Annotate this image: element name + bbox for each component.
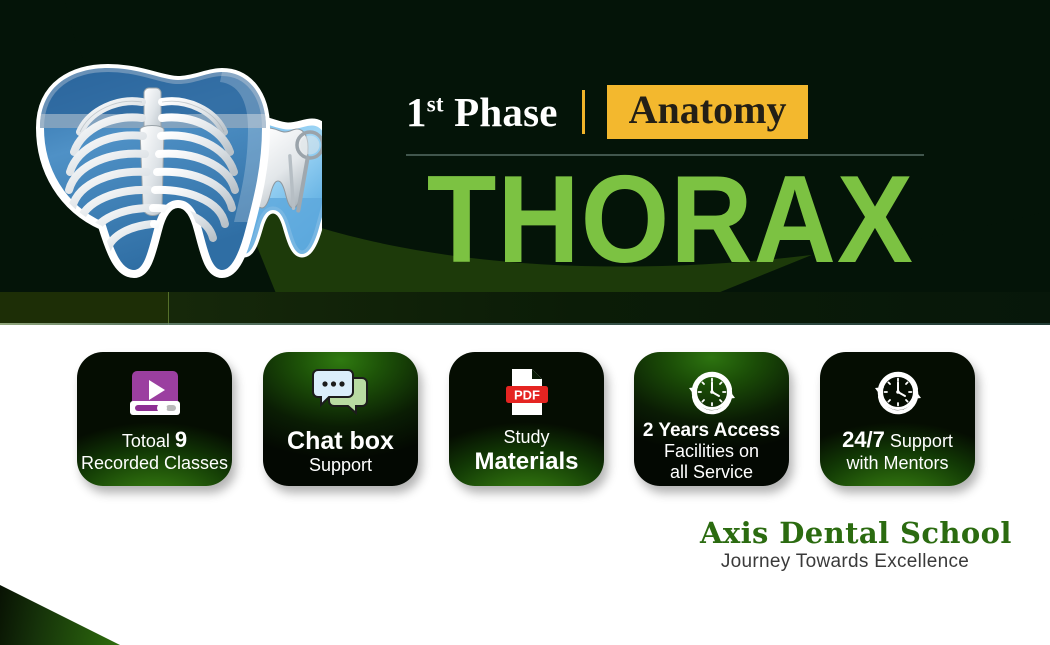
card-line-3: all Service [670, 462, 753, 482]
card-text: Totoal 9 Recorded Classes [77, 420, 232, 486]
svg-text:PDF: PDF [514, 388, 540, 403]
header-text-block: 1st Phase Anatomy THORAX [406, 80, 926, 282]
tooth-ribcage-illustration [22, 58, 322, 298]
corner-accent [0, 585, 120, 645]
card-line-1: Chat box [287, 427, 394, 455]
feature-card-chat-box[interactable]: Chat box Support [263, 352, 418, 486]
brand-tagline: Journey Towards Excellence [700, 551, 990, 573]
phase-label: 1st Phase [406, 88, 558, 136]
card-line-2: Recorded Classes [81, 453, 228, 473]
phase-row: 1st Phase Anatomy [406, 80, 926, 144]
card-text: 2 Years Access Facilities on all Service [634, 420, 789, 486]
card-line-1-plain: Support [885, 431, 953, 451]
card-text: 24/7 Support with Mentors [820, 420, 975, 486]
card-line-1: Totoal 9 [122, 428, 187, 453]
clock-refresh-icon [686, 364, 738, 420]
card-line-1: 24/7 Support [842, 428, 953, 453]
topic-title: THORAX [427, 158, 904, 282]
vertical-separator [582, 90, 585, 134]
brand-logo: Axis Dental School Journey Towards Excel… [700, 518, 990, 573]
card-line-2: Facilities on [664, 441, 759, 461]
card-line-1: Study [503, 427, 549, 447]
feature-card-study-materials[interactable]: PDF Study Materials [449, 352, 604, 486]
banner-header: 1st Phase Anatomy THORAX [0, 0, 1050, 325]
phase-ordinal-suffix: st [427, 91, 444, 116]
card-text: Chat box Support [263, 420, 418, 486]
card-text: Study Materials [449, 420, 604, 486]
feature-card-row: Totoal 9 Recorded Classes Chat box Suppo… [0, 352, 1050, 492]
phase-word: Phase [454, 89, 558, 135]
card-line-1-bold: 9 [175, 427, 187, 452]
clock-refresh-icon [872, 364, 924, 420]
brand-name: Axis Dental School [700, 518, 990, 548]
card-line-2: Materials [474, 448, 578, 475]
feature-card-two-years-access[interactable]: 2 Years Access Facilities on all Service [634, 352, 789, 486]
card-line-2: Support [309, 455, 372, 475]
video-player-icon [130, 364, 180, 420]
subject-badge: Anatomy [607, 85, 809, 139]
card-line-1: 2 Years Access [643, 420, 780, 441]
header-hairline [0, 323, 1050, 325]
card-line-2: with Mentors [846, 453, 948, 473]
header-bottom-band-left [0, 292, 169, 325]
corner-triangle [0, 585, 120, 645]
card-line-1-bold: 24/7 [842, 427, 885, 452]
feature-card-recorded-classes[interactable]: Totoal 9 Recorded Classes [77, 352, 232, 486]
card-line-1-plain: Totoal [122, 431, 175, 451]
phase-number: 1 [406, 89, 427, 135]
pdf-document-icon: PDF [506, 364, 548, 420]
course-promo-banner: 1st Phase Anatomy THORAX [0, 0, 1050, 645]
feature-card-247-support[interactable]: 24/7 Support with Mentors [820, 352, 975, 486]
chat-bubbles-icon [310, 364, 372, 420]
